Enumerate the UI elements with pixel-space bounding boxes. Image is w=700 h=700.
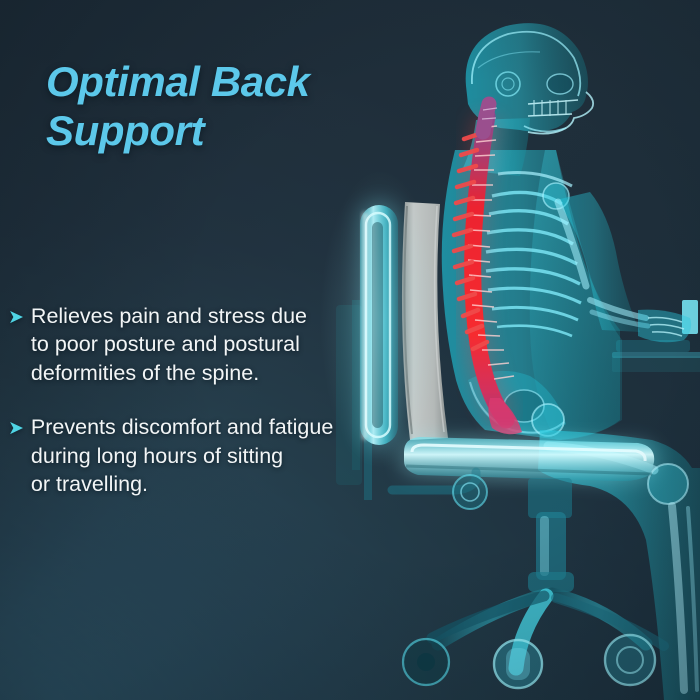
arrow-bullet-icon: ➤	[8, 419, 24, 438]
feature-list: ➤ Relieves pain and stress due to poor p…	[8, 302, 378, 524]
product-feature-poster: Optimal Back Support ➤ Relieves pain and…	[0, 0, 700, 700]
list-item: ➤ Prevents discomfort and fatigue during…	[8, 413, 378, 498]
arrow-bullet-icon: ➤	[8, 308, 24, 327]
list-item: ➤ Relieves pain and stress due to poor p…	[8, 302, 378, 387]
list-item-text: Prevents discomfort and fatigue during l…	[31, 413, 378, 498]
page-title: Optimal Back Support	[46, 58, 376, 155]
list-item-text: Relieves pain and stress due to poor pos…	[31, 302, 378, 387]
